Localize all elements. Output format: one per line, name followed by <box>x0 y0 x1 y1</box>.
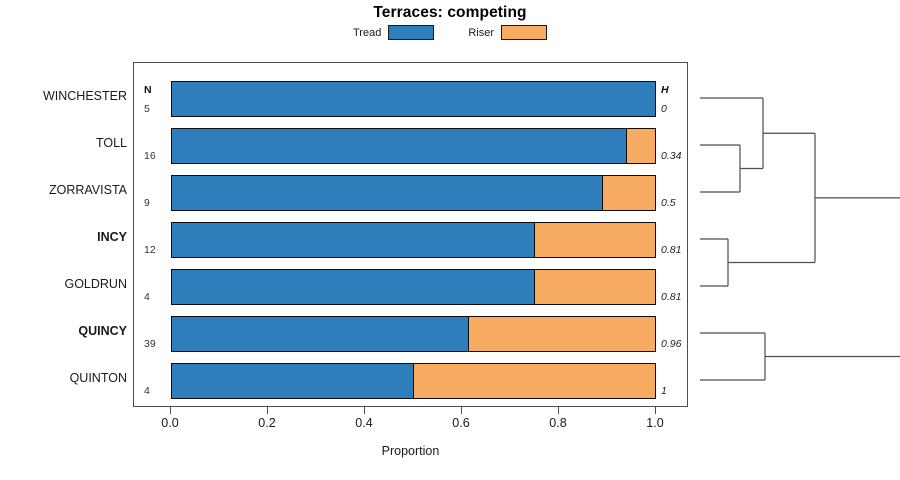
bar-segment-tread[interactable] <box>171 175 603 211</box>
bar-track <box>171 128 656 164</box>
h-value: 0.96 <box>661 338 681 350</box>
n-value: 4 <box>144 291 150 303</box>
h-value: 0.81 <box>661 244 681 256</box>
legend: Tread Riser <box>0 25 900 40</box>
x-axis: 0.00.20.40.60.81.0 <box>133 407 688 467</box>
n-value: 16 <box>144 150 156 162</box>
bar-segment-riser[interactable] <box>625 128 656 164</box>
n-value: 5 <box>144 103 150 115</box>
bar-segment-riser[interactable] <box>533 222 656 258</box>
h-value: 0.34 <box>661 150 681 162</box>
bar-row <box>134 222 689 258</box>
legend-swatch-riser <box>501 25 547 40</box>
x-axis-tick <box>461 407 462 414</box>
x-axis-tick <box>267 407 268 414</box>
y-axis-label-incy: INCY <box>2 230 127 244</box>
x-axis-tick-label: 0.6 <box>452 416 469 430</box>
h-value: 1 <box>661 385 667 397</box>
y-axis-label-zorravista: ZORRAVISTA <box>2 183 127 197</box>
h-value: 0.5 <box>661 197 676 209</box>
x-axis-tick-label: 1.0 <box>646 416 663 430</box>
bar-track <box>171 222 656 258</box>
bar-row <box>134 316 689 352</box>
legend-entry-tread: Tread <box>353 25 434 40</box>
bar-segment-tread[interactable] <box>171 128 627 164</box>
y-axis-labels: WINCHESTERTOLLZORRAVISTAINCYGOLDRUNQUINC… <box>0 62 127 407</box>
bar-segment-riser[interactable] <box>412 363 656 399</box>
x-axis-tick-label: 0.0 <box>161 416 178 430</box>
n-value: 9 <box>144 197 150 209</box>
n-value: 39 <box>144 338 156 350</box>
y-axis-label-quincy: QUINCY <box>2 324 127 338</box>
x-axis-tick-label: 0.8 <box>549 416 566 430</box>
x-axis-tick-label: 0.4 <box>355 416 372 430</box>
bar-track <box>171 81 656 117</box>
h-value: 0.81 <box>661 291 681 303</box>
bar-segment-tread[interactable] <box>171 316 469 352</box>
bar-segment-riser[interactable] <box>467 316 656 352</box>
bar-row <box>134 128 689 164</box>
x-axis-tick <box>655 407 656 414</box>
bar-track <box>171 363 656 399</box>
bar-segment-tread[interactable] <box>171 363 414 399</box>
bar-segment-tread[interactable] <box>171 222 535 258</box>
n-value: 12 <box>144 244 156 256</box>
legend-entry-riser: Riser <box>468 25 547 40</box>
bar-track <box>171 269 656 305</box>
legend-swatch-tread <box>388 25 434 40</box>
bar-row <box>134 81 689 117</box>
x-axis-tick <box>170 407 171 414</box>
n-value: 4 <box>144 385 150 397</box>
x-axis-tick-label: 0.2 <box>258 416 275 430</box>
x-axis-tick <box>364 407 365 414</box>
h-value: 0 <box>661 103 667 115</box>
bar-segment-riser[interactable] <box>601 175 656 211</box>
y-axis-label-toll: TOLL <box>2 136 127 150</box>
bar-row <box>134 269 689 305</box>
dendrogram <box>690 62 900 407</box>
y-axis-label-winchester: WINCHESTER <box>2 89 127 103</box>
legend-label-tread: Tread <box>353 27 381 39</box>
bar-segment-tread[interactable] <box>171 269 535 305</box>
bar-row <box>134 175 689 211</box>
plot-panel: NH50160.3490.5120.8140.81390.9641 <box>133 62 688 407</box>
bar-track <box>171 175 656 211</box>
bar-row <box>134 363 689 399</box>
y-axis-label-quinton: QUINTON <box>2 371 127 385</box>
x-axis-title: Proportion <box>133 444 688 458</box>
bar-segment-tread[interactable] <box>171 81 656 117</box>
x-axis-tick <box>558 407 559 414</box>
bar-track <box>171 316 656 352</box>
y-axis-label-goldrun: GOLDRUN <box>2 277 127 291</box>
legend-label-riser: Riser <box>468 27 494 39</box>
chart-root: Terraces: competing Tread Riser WINCHEST… <box>0 0 900 480</box>
chart-title: Terraces: competing <box>0 4 900 22</box>
bar-segment-riser[interactable] <box>533 269 656 305</box>
